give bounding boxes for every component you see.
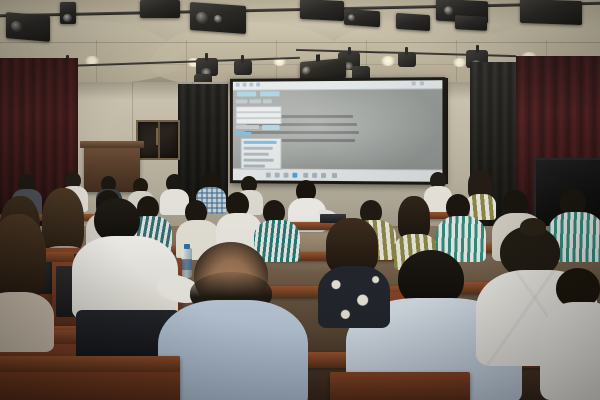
toolbar-icon <box>275 173 280 178</box>
projector-mount <box>316 54 320 61</box>
toolbar-icon <box>312 173 317 178</box>
menu-item <box>244 159 274 162</box>
toolbar-icon <box>266 173 271 178</box>
panel-button <box>262 125 280 130</box>
stage-light-icon <box>140 0 180 18</box>
long-hair <box>0 214 46 300</box>
projection-booth-window <box>136 120 180 160</box>
taskbar-icon <box>249 83 253 87</box>
downlight-icon <box>380 56 396 66</box>
hair-bun <box>520 218 546 236</box>
light-yoke <box>241 55 244 63</box>
menu-item <box>244 165 265 168</box>
torso <box>0 292 54 352</box>
panel-field <box>236 118 282 124</box>
stage-light-icon <box>300 0 344 21</box>
projection-screen: 文件管理系统 能力是规范力量，正确行使它，需要先承担 人民公仆，确实履行它，公开… <box>230 77 446 185</box>
panel-tab <box>249 99 261 103</box>
window-glint <box>156 128 158 145</box>
panel-button <box>260 91 280 96</box>
menu-item <box>244 147 273 150</box>
panel-button <box>237 91 256 96</box>
stage-light-icon <box>520 0 582 25</box>
bench-armrest <box>44 252 74 262</box>
panel-dropdown-menu[interactable] <box>241 138 282 170</box>
toolbar-icon <box>303 173 308 178</box>
taskbar-icon <box>243 83 247 87</box>
taskbar-icon <box>412 81 416 85</box>
document-toolbar[interactable] <box>233 168 443 181</box>
light-yoke <box>348 47 351 55</box>
bottle-label <box>182 259 192 270</box>
light-yoke <box>476 45 479 53</box>
panel-tab <box>236 99 248 103</box>
torso <box>540 302 600 400</box>
stage-light-icon <box>455 15 487 31</box>
bottle-cap <box>184 244 190 249</box>
panel-row <box>236 132 252 136</box>
taskbar-icon <box>420 81 424 85</box>
toolbar-icon <box>332 173 337 178</box>
menu-item <box>244 153 269 156</box>
panel-tab <box>263 99 272 103</box>
water-bottle <box>182 248 192 278</box>
taskbar-icon <box>256 83 260 87</box>
projected-image: 文件管理系统 能力是规范力量，正确行使它，需要先承担 人民公仆，确实履行它，公开… <box>233 80 443 182</box>
long-hair <box>42 188 84 254</box>
conference-hall-photo: 文件管理系统 能力是规范力量，正确行使它，需要先承担 人民公仆，确实履行它，公开… <box>0 0 600 400</box>
panel-row <box>236 125 259 129</box>
slide-text-line <box>245 131 360 134</box>
bench-seat-foreground <box>0 356 180 400</box>
stage-light-icon <box>190 2 246 34</box>
bench-seat-foreground <box>330 372 470 400</box>
taskbar-icon <box>236 83 240 87</box>
projector-lens-icon <box>302 66 311 76</box>
menu-item-selected <box>244 141 277 144</box>
light-yoke <box>405 47 408 55</box>
downlight-icon <box>452 58 467 67</box>
toolbar-icon <box>321 173 326 178</box>
bench-armrest <box>0 356 180 372</box>
stage-light-icon <box>344 9 380 28</box>
torso <box>318 266 390 328</box>
stage-light-icon <box>6 12 50 42</box>
light-yoke <box>205 53 208 61</box>
stage-light-icon <box>60 2 76 24</box>
window-mullion <box>158 122 160 158</box>
toolbar-icon <box>284 173 289 178</box>
torso <box>158 300 308 400</box>
podium-top <box>80 141 144 148</box>
toolbar-icon-selected <box>292 173 297 178</box>
stage-light-icon <box>396 13 430 31</box>
